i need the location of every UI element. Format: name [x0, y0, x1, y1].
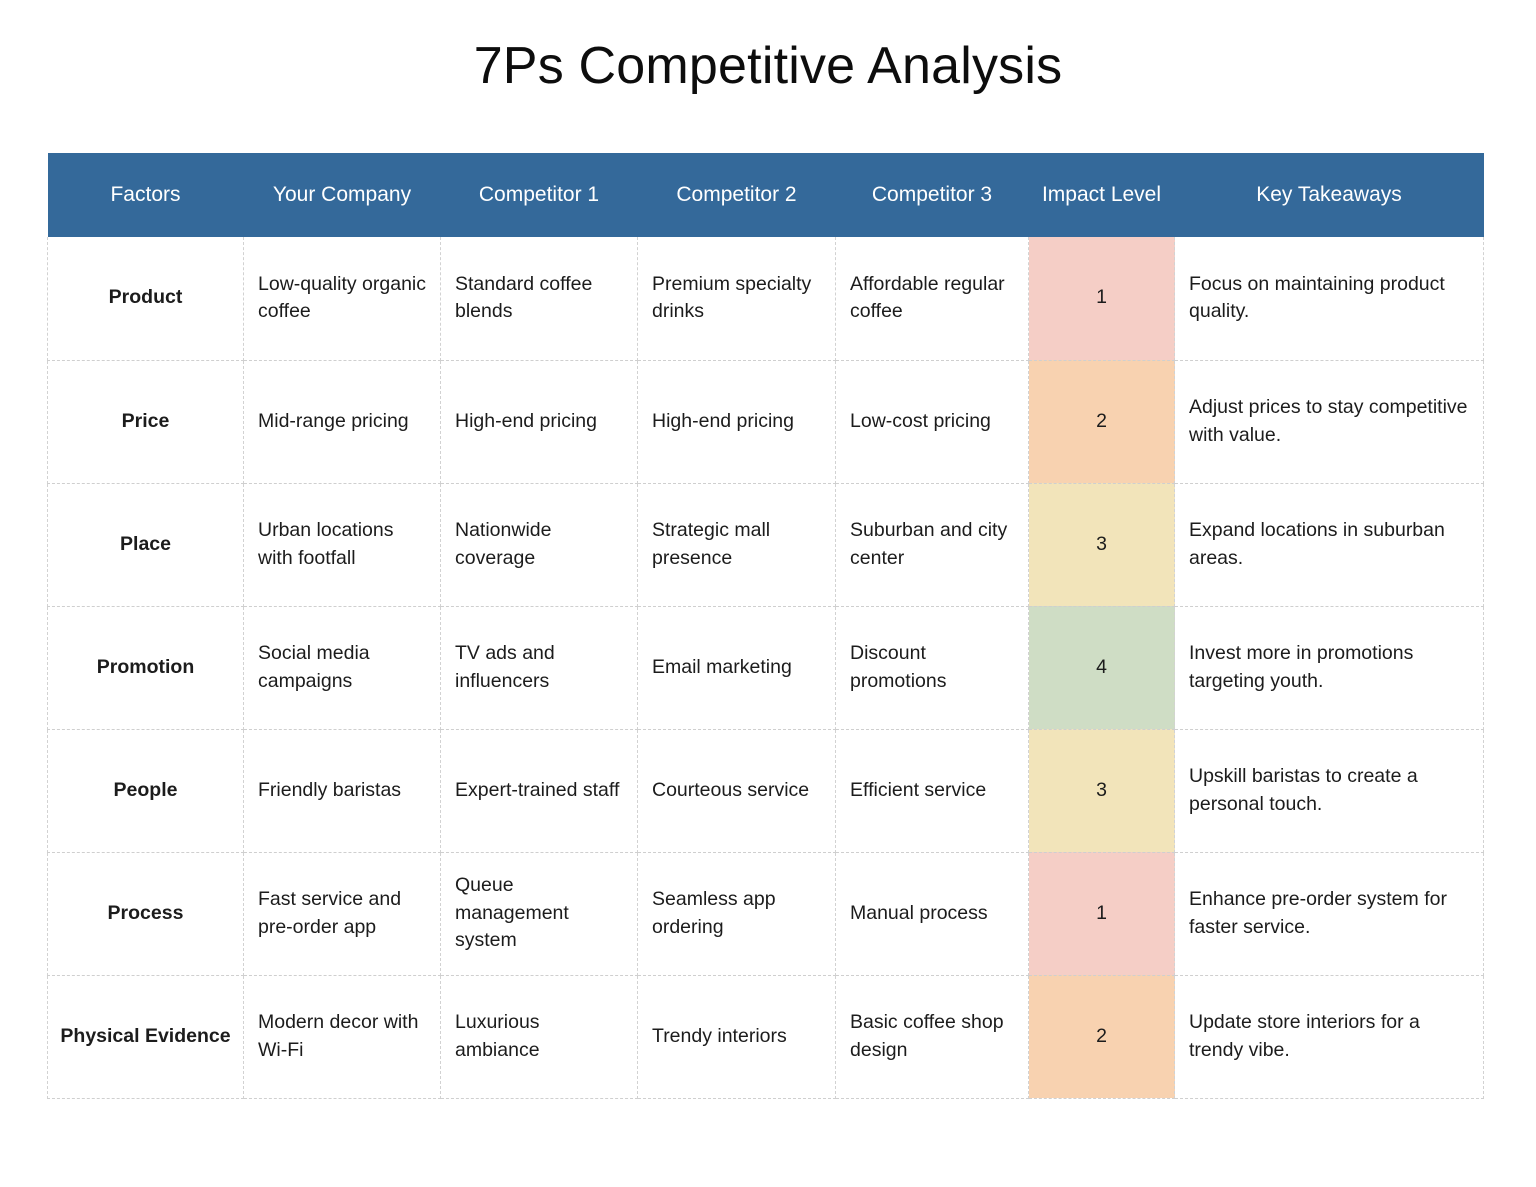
- competitive-analysis-table: Factors Your Company Competitor 1 Compet…: [47, 153, 1484, 1099]
- table-row: PlaceUrban locations with footfallNation…: [48, 483, 1484, 606]
- cell-impact-level: 2: [1029, 360, 1175, 483]
- column-header-competitor-3: Competitor 3: [836, 153, 1029, 237]
- cell-impact-level: 3: [1029, 729, 1175, 852]
- cell-your-company: Low-quality organic coffee: [244, 237, 441, 360]
- cell-competitor-2: Courteous service: [638, 729, 836, 852]
- cell-competitor-2: Trendy interiors: [638, 975, 836, 1098]
- table-row: PeopleFriendly baristasExpert-trained st…: [48, 729, 1484, 852]
- cell-competitor-3: Affordable regular coffee: [836, 237, 1029, 360]
- table-body: ProductLow-quality organic coffeeStandar…: [48, 237, 1484, 1098]
- column-header-key-takeaways: Key Takeaways: [1175, 153, 1484, 237]
- cell-key-takeaway: Update store interiors for a trendy vibe…: [1175, 975, 1484, 1098]
- cell-competitor-1: High-end pricing: [441, 360, 638, 483]
- cell-factor: Promotion: [48, 606, 244, 729]
- cell-competitor-1: Nationwide coverage: [441, 483, 638, 606]
- competitive-analysis-table-wrapper: Factors Your Company Competitor 1 Compet…: [47, 153, 1483, 1099]
- cell-competitor-3: Discount promotions: [836, 606, 1029, 729]
- cell-your-company: Friendly baristas: [244, 729, 441, 852]
- cell-your-company: Modern decor with Wi-Fi: [244, 975, 441, 1098]
- cell-your-company: Mid-range pricing: [244, 360, 441, 483]
- cell-competitor-1: Queue management system: [441, 852, 638, 975]
- cell-key-takeaway: Focus on maintaining product quality.: [1175, 237, 1484, 360]
- cell-competitor-1: TV ads and influencers: [441, 606, 638, 729]
- cell-competitor-3: Low-cost pricing: [836, 360, 1029, 483]
- cell-factor: People: [48, 729, 244, 852]
- column-header-factors: Factors: [48, 153, 244, 237]
- cell-impact-level: 4: [1029, 606, 1175, 729]
- column-header-your-company: Your Company: [244, 153, 441, 237]
- cell-your-company: Urban locations with footfall: [244, 483, 441, 606]
- cell-key-takeaway: Adjust prices to stay competitive with v…: [1175, 360, 1484, 483]
- table-row: Physical EvidenceModern decor with Wi-Fi…: [48, 975, 1484, 1098]
- table-row: ProcessFast service and pre-order appQue…: [48, 852, 1484, 975]
- column-header-competitor-1: Competitor 1: [441, 153, 638, 237]
- cell-key-takeaway: Expand locations in suburban areas.: [1175, 483, 1484, 606]
- cell-factor: Physical Evidence: [48, 975, 244, 1098]
- cell-factor: Process: [48, 852, 244, 975]
- cell-competitor-3: Suburban and city center: [836, 483, 1029, 606]
- cell-competitor-2: High-end pricing: [638, 360, 836, 483]
- cell-key-takeaway: Upskill baristas to create a personal to…: [1175, 729, 1484, 852]
- cell-competitor-2: Strategic mall presence: [638, 483, 836, 606]
- cell-competitor-2: Seamless app ordering: [638, 852, 836, 975]
- cell-impact-level: 1: [1029, 852, 1175, 975]
- cell-competitor-3: Efficient service: [836, 729, 1029, 852]
- cell-key-takeaway: Invest more in promotions targeting yout…: [1175, 606, 1484, 729]
- table-row: ProductLow-quality organic coffeeStandar…: [48, 237, 1484, 360]
- cell-competitor-2: Email marketing: [638, 606, 836, 729]
- table-header: Factors Your Company Competitor 1 Compet…: [48, 153, 1484, 237]
- cell-impact-level: 2: [1029, 975, 1175, 1098]
- table-row: PriceMid-range pricingHigh-end pricingHi…: [48, 360, 1484, 483]
- table-row: PromotionSocial media campaignsTV ads an…: [48, 606, 1484, 729]
- cell-factor: Price: [48, 360, 244, 483]
- table-header-row: Factors Your Company Competitor 1 Compet…: [48, 153, 1484, 237]
- column-header-competitor-2: Competitor 2: [638, 153, 836, 237]
- cell-competitor-1: Luxurious ambiance: [441, 975, 638, 1098]
- page-root: 7Ps Competitive Analysis Factors Your Co…: [0, 0, 1536, 1187]
- cell-competitor-1: Standard coffee blends: [441, 237, 638, 360]
- page-title: 7Ps Competitive Analysis: [0, 38, 1536, 95]
- cell-your-company: Fast service and pre-order app: [244, 852, 441, 975]
- cell-competitor-1: Expert-trained staff: [441, 729, 638, 852]
- cell-competitor-3: Basic coffee shop design: [836, 975, 1029, 1098]
- column-header-impact-level: Impact Level: [1029, 153, 1175, 237]
- cell-impact-level: 3: [1029, 483, 1175, 606]
- cell-factor: Place: [48, 483, 244, 606]
- cell-key-takeaway: Enhance pre-order system for faster serv…: [1175, 852, 1484, 975]
- cell-impact-level: 1: [1029, 237, 1175, 360]
- cell-competitor-2: Premium specialty drinks: [638, 237, 836, 360]
- cell-competitor-3: Manual process: [836, 852, 1029, 975]
- cell-factor: Product: [48, 237, 244, 360]
- cell-your-company: Social media campaigns: [244, 606, 441, 729]
